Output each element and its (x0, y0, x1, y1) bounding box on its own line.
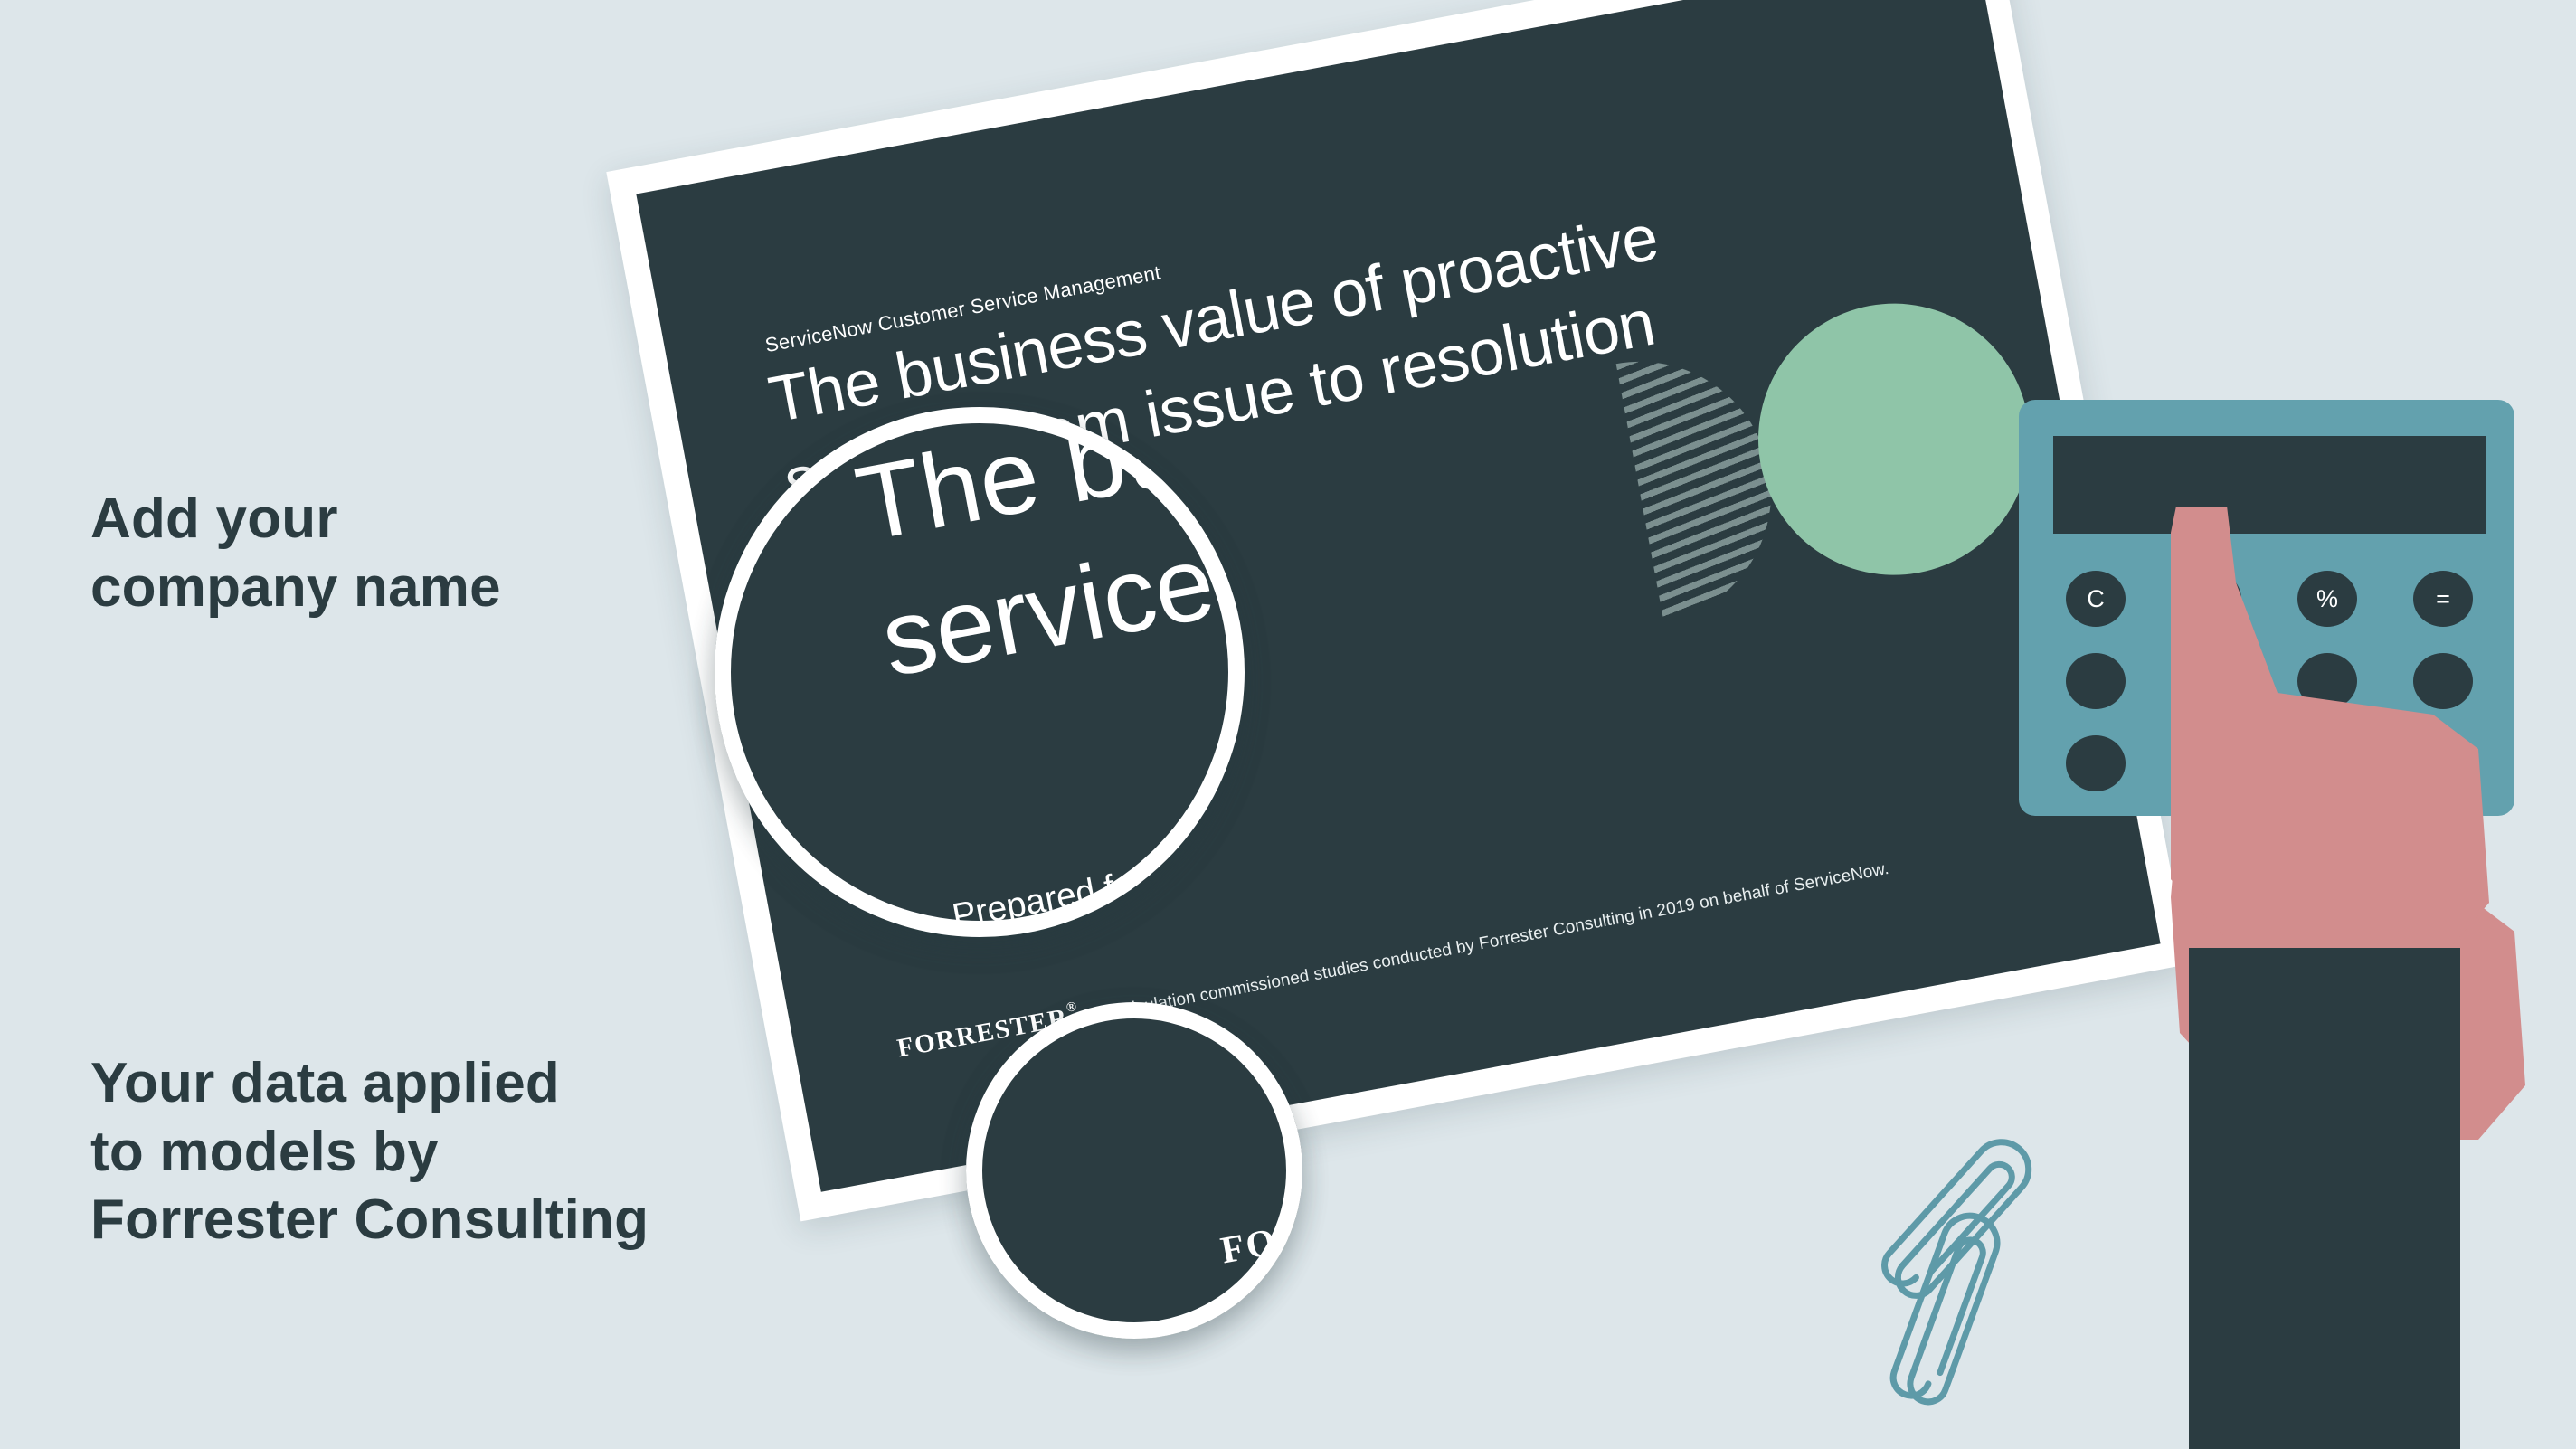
headline-2-line-1: Your data applied (90, 1049, 814, 1118)
lens-prepared-for-label: Prepared for (949, 862, 1149, 937)
lens-forrester-logo-text: Forrester (1215, 1171, 1302, 1276)
promo-canvas: Add your company name Your data applied … (0, 0, 2576, 1449)
calc-key-r2c1[interactable] (2066, 653, 2126, 709)
headline-forrester-models: Your data applied to models by Forrester… (90, 1049, 814, 1255)
paperclips-illustration (1863, 1131, 2162, 1438)
pointing-hand-illustration (2171, 507, 2576, 1449)
headline-1-line-2: company name (90, 554, 778, 622)
headline-2-line-3: Forrester Consulting (90, 1186, 814, 1255)
headline-2-line-2: to models by (90, 1118, 814, 1187)
calc-key-r3c1[interactable] (2066, 735, 2126, 791)
magnifier-lens-title: The business value of proactive service … (715, 407, 1245, 937)
lens-forrester-logo: Forrester® (1215, 1167, 1302, 1277)
hand-finger-shape (2171, 507, 2489, 957)
lens-logo-magnified-content: Forrester® Calculation commissioned stud… (966, 1002, 1302, 1339)
calc-key-clear[interactable]: C (2066, 571, 2126, 627)
lens-title-magnified-content: The business value of proactive service … (715, 407, 1245, 937)
sleeve-shape (2189, 948, 2460, 1449)
magnifier-lens-logo: Forrester® Calculation commissioned stud… (966, 1002, 1302, 1339)
